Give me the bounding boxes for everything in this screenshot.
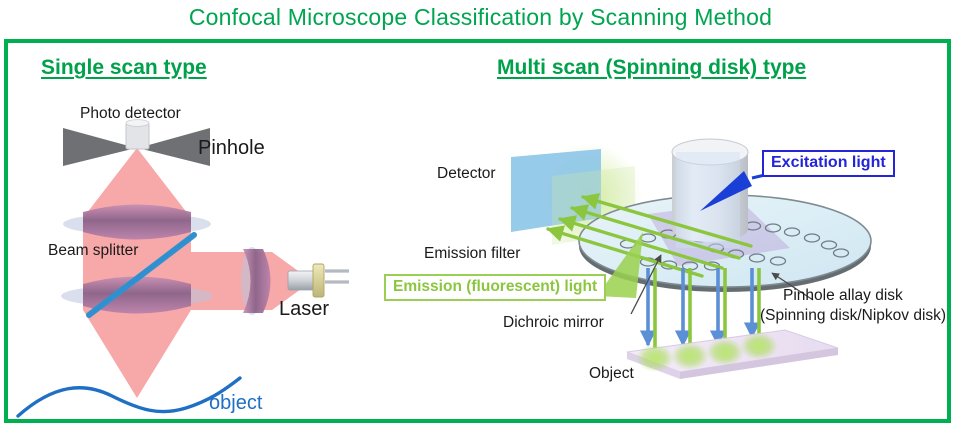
label-beam-splitter: Beam splitter: [48, 242, 138, 261]
left-panel-heading: Single scan type: [41, 56, 207, 80]
label-object-right: Object: [589, 365, 634, 384]
right-panel-heading: Multi scan (Spinning disk) type: [497, 56, 806, 80]
callout-excitation-light: Excitation light: [762, 150, 895, 177]
label-dichroic-mirror: Dichroic mirror: [503, 314, 604, 333]
page-title: Confocal Microscope Classification by Sc…: [0, 4, 961, 31]
label-laser: Laser: [279, 297, 329, 321]
label-detector: Detector: [437, 165, 496, 184]
label-pinhole-disk-line1: Pinhole allay disk: [783, 287, 903, 306]
label-pinhole: Pinhole: [198, 136, 265, 160]
diagram-frame: [4, 39, 951, 423]
label-pinhole-disk-line2: (Spinning disk/Nipkov disk): [760, 307, 946, 326]
label-emission-filter: Emission filter: [424, 245, 520, 264]
label-photo-detector: Photo detector: [80, 105, 181, 124]
callout-emission-light: Emission (fluorescent) light: [384, 274, 606, 301]
label-object-left: object: [209, 391, 262, 415]
diagram-root: Confocal Microscope Classification by Sc…: [0, 0, 961, 432]
